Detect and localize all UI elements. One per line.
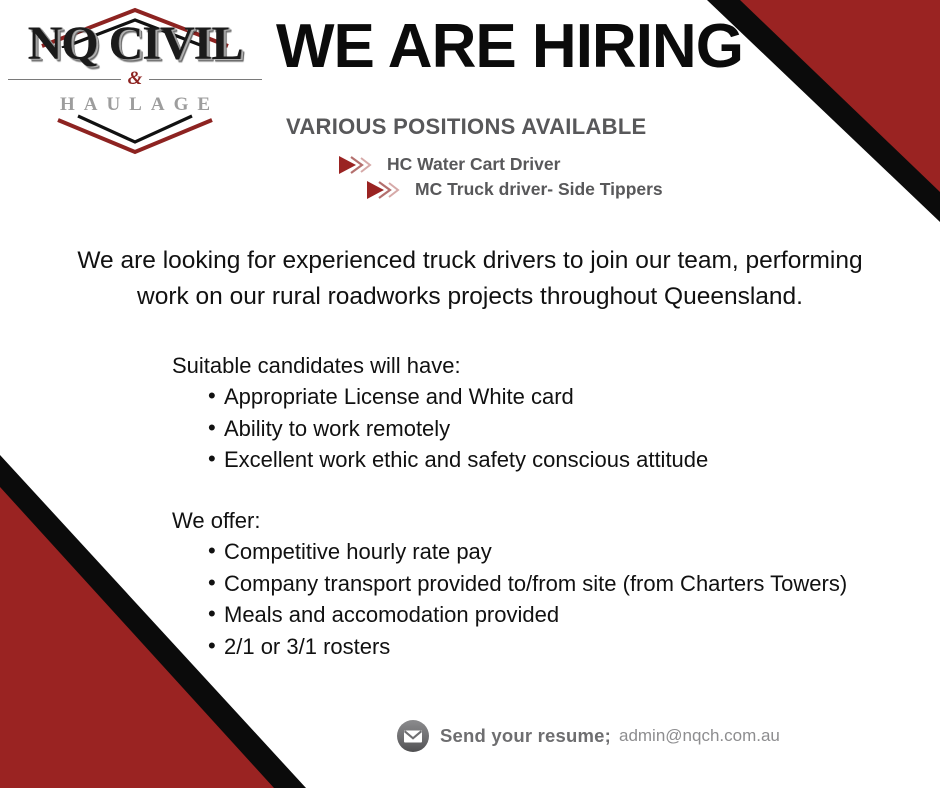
position-label: HC Water Cart Driver	[387, 154, 560, 175]
logo-divider: &	[8, 68, 262, 90]
requirements-block: Suitable candidates will have: Appropria…	[172, 350, 892, 476]
requirements-heading: Suitable candidates will have:	[172, 350, 892, 381]
logo-rule-right	[149, 79, 262, 80]
list-item: Meals and accomodation provided	[208, 599, 912, 630]
list-item: HC Water Cart Driver	[338, 152, 858, 177]
footer-cta-label: Send your resume;	[440, 725, 611, 747]
offers-heading: We offer:	[172, 505, 912, 536]
footer-email-address[interactable]: admin@nqch.com.au	[619, 726, 780, 746]
intro-paragraph: We are looking for experienced truck dri…	[55, 243, 885, 314]
position-label: MC Truck driver- Side Tippers	[415, 179, 663, 200]
company-logo: NQ CIVIL & HAULAGE	[6, 2, 264, 162]
page-title: WE ARE HIRING	[276, 16, 776, 78]
triple-arrow-right-icon	[366, 179, 410, 201]
list-item: Excellent work ethic and safety consciou…	[208, 444, 892, 475]
hiring-poster: NQ CIVIL & HAULAGE WE ARE HIRING VARIOUS…	[0, 0, 940, 788]
positions-list: HC Water Cart Driver MC Truck driver- Si…	[338, 152, 858, 202]
logo-ampersand: &	[121, 69, 150, 88]
list-item: Appropriate License and White card	[208, 381, 892, 412]
list-item: MC Truck driver- Side Tippers	[366, 177, 858, 202]
chevron-down-icon	[6, 114, 264, 158]
envelope-circle-icon	[396, 719, 430, 753]
list-item: 2/1 or 3/1 rosters	[208, 631, 912, 662]
footer-contact: Send your resume; admin@nqch.com.au	[396, 719, 780, 753]
page-subtitle: VARIOUS POSITIONS AVAILABLE	[286, 114, 647, 140]
logo-rule-left	[8, 79, 121, 80]
list-item: Competitive hourly rate pay	[208, 536, 912, 567]
requirements-list: Appropriate License and White card Abili…	[172, 381, 892, 475]
logo-subword: HAULAGE	[6, 94, 264, 116]
offers-block: We offer: Competitive hourly rate pay Co…	[172, 505, 912, 662]
list-item: Ability to work remotely	[208, 413, 892, 444]
list-item: Company transport provided to/from site …	[208, 568, 912, 599]
triple-arrow-right-icon	[338, 154, 382, 176]
logo-wordmark: NQ CIVIL	[6, 20, 264, 68]
offers-list: Competitive hourly rate pay Company tran…	[172, 536, 912, 662]
